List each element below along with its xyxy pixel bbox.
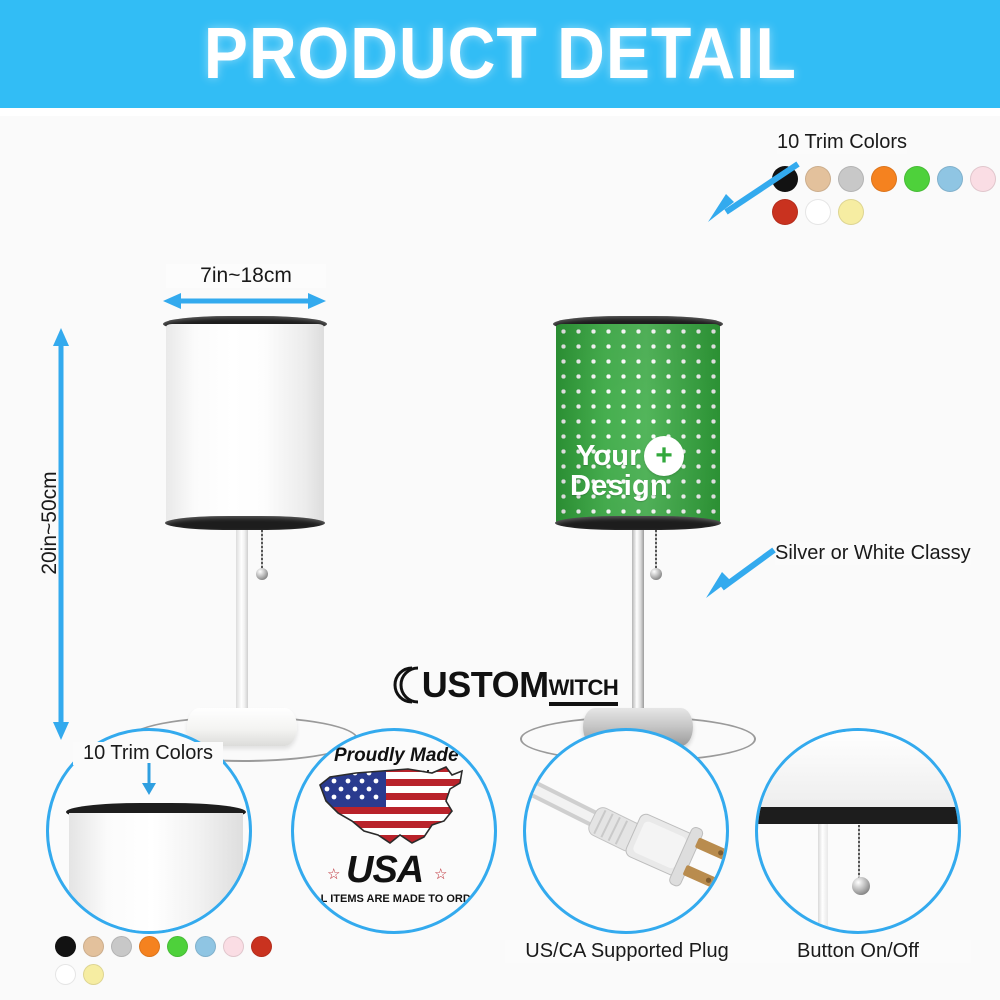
page-title: PRODUCT DETAIL	[203, 13, 796, 95]
base-finish-arrow	[700, 544, 780, 604]
logo-custom-text: USTOM	[422, 664, 549, 706]
switch-caption: Button On/Off	[745, 940, 971, 963]
switch-pull-chain[interactable]	[858, 825, 860, 881]
switch-circle	[755, 728, 961, 934]
plug-caption: US/CA Supported Plug	[505, 940, 749, 963]
plug-circle	[523, 728, 729, 934]
usa-badge-subtitle: ALL ITEMS ARE MADE TO ORDER!	[306, 893, 490, 905]
feature-trim-colors-label: 10 Trim Colors	[73, 742, 223, 765]
base-finish-label: Silver or White Classy	[775, 542, 971, 565]
page-header: PRODUCT DETAIL	[0, 0, 1000, 108]
width-dimension-arrow	[163, 292, 326, 310]
feature-swatch-green[interactable]	[167, 936, 188, 957]
switch-pole	[818, 824, 828, 934]
power-plug-icon	[532, 771, 728, 901]
feature-swatch-yellow[interactable]	[83, 964, 104, 985]
feature-swatch-gray[interactable]	[111, 936, 132, 957]
logo-c-icon	[382, 663, 424, 707]
shade-bottom-trim	[165, 516, 325, 530]
usa-badge-main: USA	[346, 849, 423, 892]
trim-callout-arrow	[700, 156, 805, 226]
design-text-line2: Design	[570, 472, 668, 502]
made-in-usa-circle: Proudly Made in the	[291, 728, 497, 934]
feature-swatch-tan[interactable]	[83, 936, 104, 957]
width-dimension-label: 7in~18cm	[166, 264, 326, 288]
usa-star-left: ☆	[327, 865, 340, 883]
trim-swatch-tan[interactable]	[805, 166, 831, 192]
main-stage: 7in~18cm 20in~50cm Your	[0, 116, 1000, 656]
trim-swatch-orange[interactable]	[871, 166, 897, 192]
feature-swatch-light-blue[interactable]	[195, 936, 216, 957]
lamp-shade-white	[166, 324, 324, 524]
trim-color-swatches	[772, 166, 1000, 225]
circle-shade-body	[69, 813, 243, 934]
logo-witch-text: WITCH	[549, 675, 619, 706]
trim-swatch-green[interactable]	[904, 166, 930, 192]
switch-pull-ball[interactable]	[852, 877, 870, 895]
header-divider	[0, 108, 1000, 116]
product-detail-page: PRODUCT DETAIL 7in~18cm 20in~50cm	[0, 0, 1000, 1000]
feature-swatch-black[interactable]	[55, 936, 76, 957]
trim-colors-down-arrow	[140, 763, 158, 795]
switch-shade-trim	[755, 807, 961, 824]
feature-swatch-pink[interactable]	[223, 936, 244, 957]
usa-star-right: ☆	[434, 865, 447, 883]
trim-colors-title: 10 Trim Colors	[777, 131, 907, 154]
feature-swatch-white[interactable]	[55, 964, 76, 985]
switch-shade-body	[755, 731, 961, 809]
brand-logo: USTOM WITCH	[0, 660, 1000, 710]
feature-swatch-red[interactable]	[251, 936, 272, 957]
trim-swatch-gray[interactable]	[838, 166, 864, 192]
feature-row: 10 Trim Colors Proudly Made	[0, 718, 1000, 1000]
trim-swatch-yellow[interactable]	[838, 199, 864, 225]
trim-swatch-white[interactable]	[805, 199, 831, 225]
pull-chain-ball-custom[interactable]	[650, 568, 662, 580]
usa-map-flag-icon	[312, 759, 484, 851]
feature-trim-swatches	[55, 936, 285, 985]
pull-chain-ball[interactable]	[256, 568, 268, 580]
lamp-shade-green: Your + Design	[556, 324, 720, 524]
trim-swatch-pink[interactable]	[970, 166, 996, 192]
feature-swatch-orange[interactable]	[139, 936, 160, 957]
design-text-line1: Your	[576, 442, 641, 472]
trim-swatch-light-blue[interactable]	[937, 166, 963, 192]
shade-bottom-trim-custom	[555, 516, 721, 530]
